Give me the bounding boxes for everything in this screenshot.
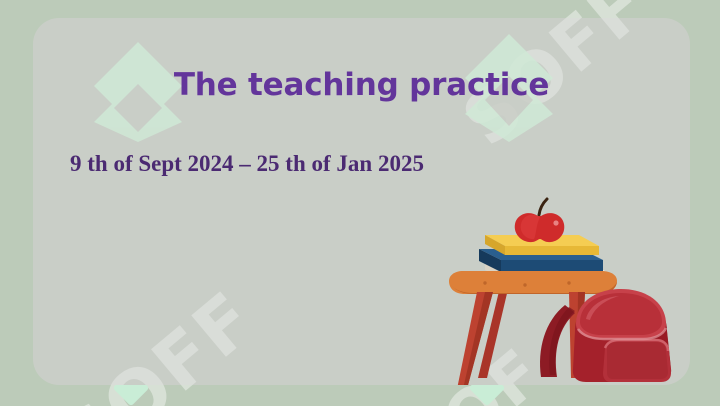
slide-panel: SOFF SOFF SOF The [33, 18, 690, 385]
slide-root: SOFF SOFF SOF SOFF SOFF SOF [0, 0, 720, 406]
school-desk-illustration [423, 193, 690, 385]
subtitle-block: 9 th of Sept 2024 – 25 th of Jan 2025 [70, 150, 630, 178]
title-block: The teaching practice [33, 68, 690, 102]
date-range-subtitle: 9 th of Sept 2024 – 25 th of Jan 2025 [70, 150, 630, 178]
page-title: The teaching practice [33, 68, 690, 102]
panel-watermark-text-bottom-left: SOFF [45, 275, 273, 385]
